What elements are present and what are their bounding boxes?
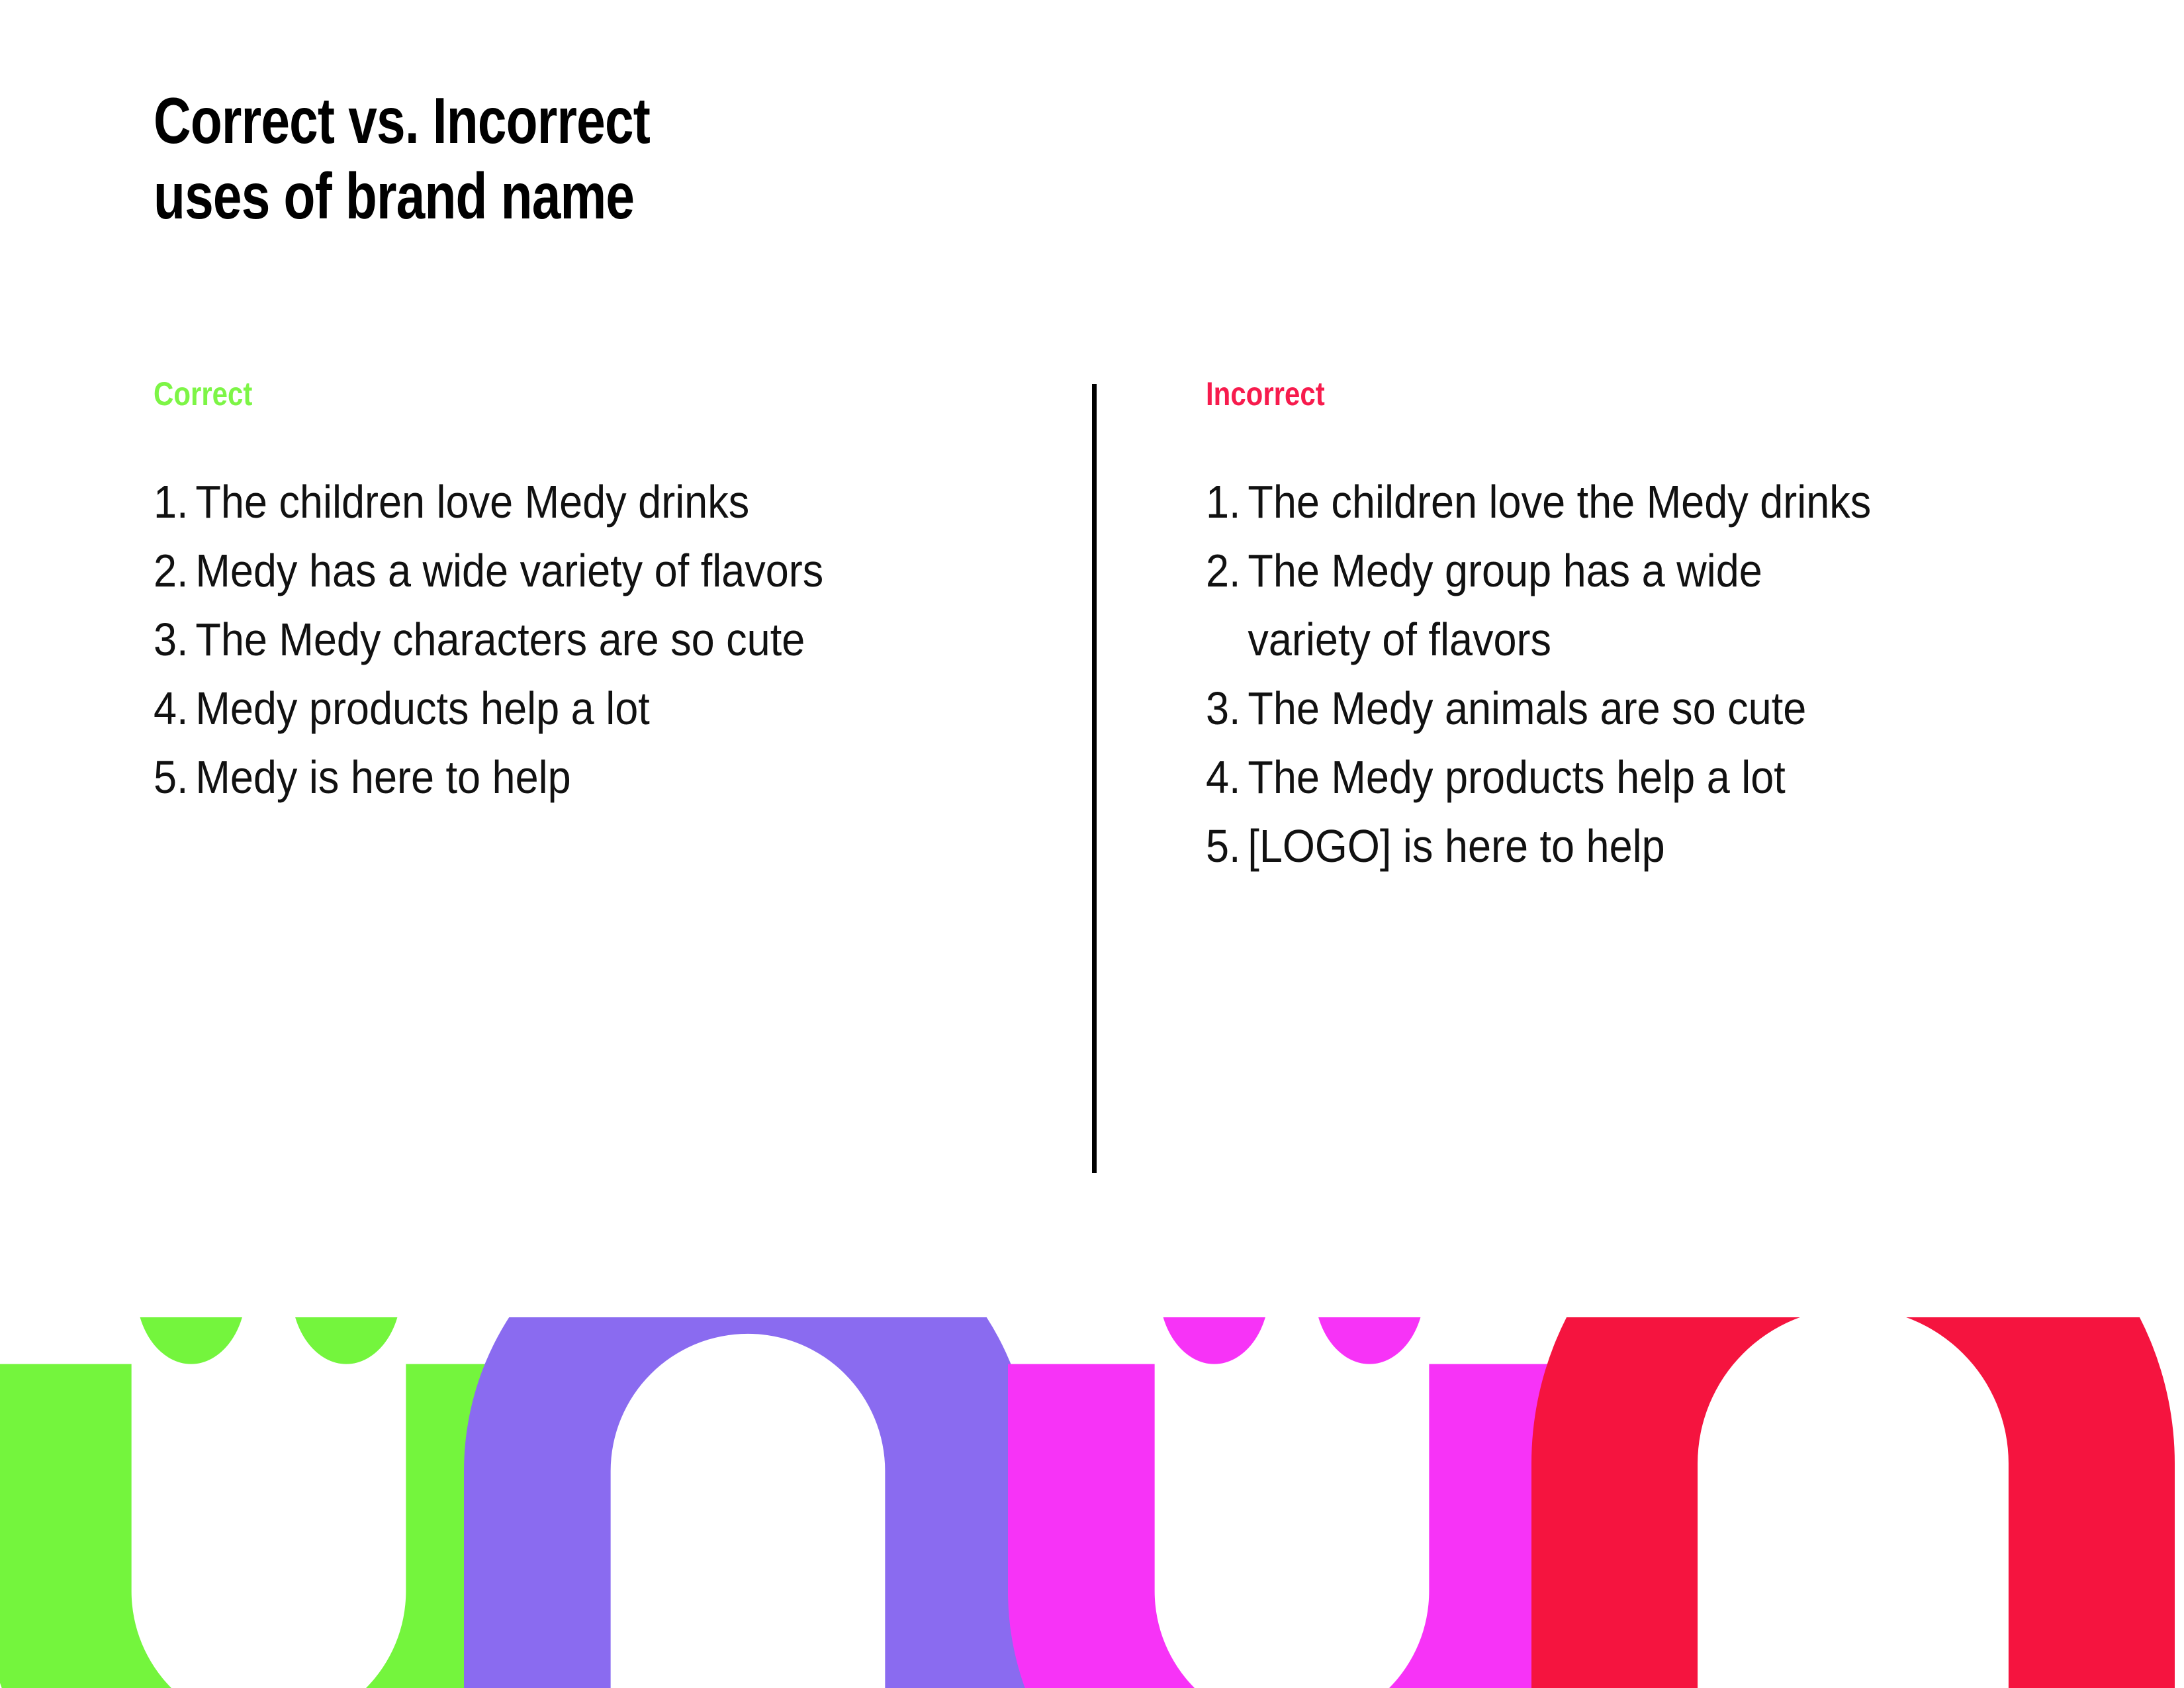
purple-smiley-icon bbox=[464, 1317, 1032, 1688]
list-item: 3. The Medy animals are so cute bbox=[1206, 674, 2040, 743]
column-divider bbox=[1092, 384, 1097, 1173]
magenta-smiley-icon bbox=[1008, 1317, 1576, 1688]
list-item: 1. The children love Medy drinks bbox=[154, 467, 964, 536]
list-item-label: Medy products help a lot bbox=[195, 674, 964, 743]
list-item-label: [LOGO] is here to help bbox=[1248, 812, 2040, 880]
list-item-number: 1. bbox=[154, 467, 195, 536]
red-smiley-icon bbox=[1531, 1317, 2175, 1688]
incorrect-column: Incorrect 1. The children love the Medy … bbox=[1206, 377, 2132, 880]
list-item: 4. Medy products help a lot bbox=[154, 674, 964, 743]
list-item-number: 2. bbox=[154, 536, 195, 605]
list-item-number: 1. bbox=[1206, 467, 1248, 536]
list-item-number: 4. bbox=[154, 674, 195, 743]
list-item: 4. The Medy products help a lot bbox=[1206, 743, 2040, 812]
correct-column: Correct 1. The children love Medy drinks… bbox=[154, 377, 1054, 812]
list-item-number: 5. bbox=[154, 743, 195, 812]
correct-heading: Correct bbox=[154, 377, 909, 410]
list-item: 2. The Medy group has a wide variety of … bbox=[1206, 536, 1855, 674]
incorrect-heading: Incorrect bbox=[1206, 377, 1984, 410]
list-item-number: 4. bbox=[1206, 743, 1248, 812]
list-item-label: The Medy products help a lot bbox=[1248, 743, 2040, 812]
list-item-number: 3. bbox=[1206, 674, 1248, 743]
list-item: 3. The Medy characters are so cute bbox=[154, 605, 964, 674]
page-title: Correct vs. Incorrect uses of brand name bbox=[154, 83, 948, 234]
list-item-label: Medy has a wide variety of flavors bbox=[195, 536, 964, 605]
list-item-label: Medy is here to help bbox=[195, 743, 964, 812]
list-item: 5. [LOGO] is here to help bbox=[1206, 812, 2040, 880]
incorrect-list: 1. The children love the Medy drinks 2. … bbox=[1206, 467, 2132, 880]
correct-list: 1. The children love Medy drinks 2. Medy… bbox=[154, 467, 1054, 812]
list-item: 1. The children love the Medy drinks bbox=[1206, 467, 2040, 536]
list-item-label: The Medy characters are so cute bbox=[195, 605, 964, 674]
list-item: 5. Medy is here to help bbox=[154, 743, 964, 812]
list-item-number: 2. bbox=[1206, 536, 1248, 605]
list-item-number: 5. bbox=[1206, 812, 1248, 880]
smiley-face-band bbox=[0, 1317, 2184, 1688]
list-item-label: The children love the Medy drinks bbox=[1248, 467, 2040, 536]
list-item-label: The Medy animals are so cute bbox=[1248, 674, 2040, 743]
list-item-number: 3. bbox=[154, 605, 195, 674]
slide-canvas: Correct vs. Incorrect uses of brand name… bbox=[0, 0, 2184, 1688]
list-item: 2. Medy has a wide variety of flavors bbox=[154, 536, 964, 605]
list-item-label: The children love Medy drinks bbox=[195, 467, 964, 536]
list-item-label: The Medy group has a wide variety of fla… bbox=[1248, 536, 1855, 674]
